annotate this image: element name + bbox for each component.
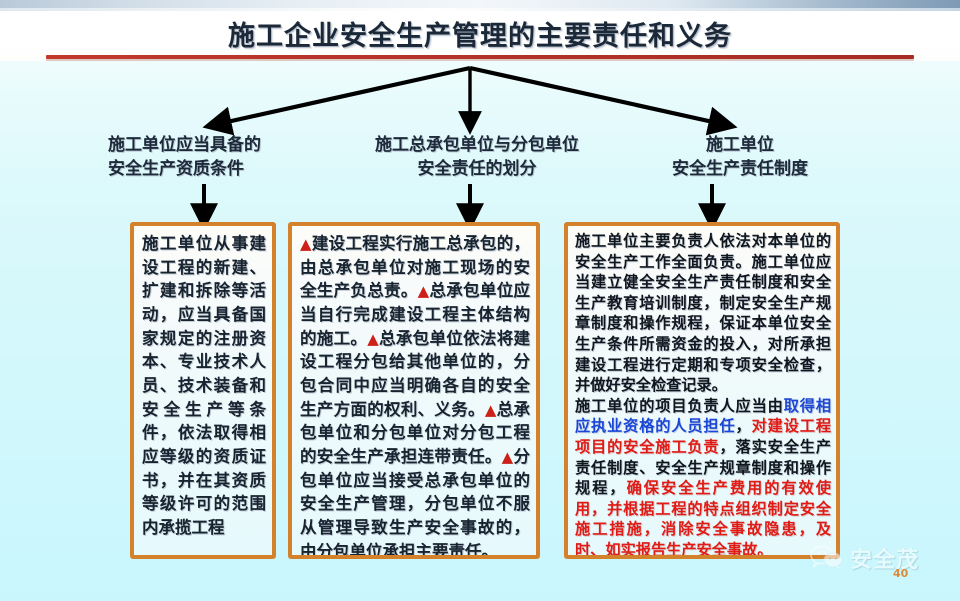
content-box-3-text: 施工单位主要负责人依法对本单位的安全生产工作全面负责。施工单位应当建立健全安全生… (568, 226, 836, 559)
column-header-1-line1: 施工单位应当具备的 (108, 135, 261, 155)
column-header-1-line2: 安全生产资质条件 (108, 157, 308, 181)
top-chrome-strip (0, 0, 960, 8)
paragraph-2-segment-plain: 施工单位的项目负责人应当由 (575, 397, 784, 415)
content-box-responsibility-system: 施工单位主要负责人依法对本单位的安全生产工作全面负责。施工单位应当建立健全安全生… (564, 222, 840, 559)
bullet-triangle-icon: ▲ (418, 282, 430, 300)
slide-canvas: 施工企业安全生产管理的主要责任和义务 施工单位应当具备的 安全生产资质条件 施工… (0, 0, 960, 601)
column-header-3: 施工单位 安全生产责任制度 (650, 133, 830, 181)
page-title: 施工企业安全生产管理的主要责任和义务 (0, 14, 960, 53)
column-header-2: 施工总承包单位与分包单位 安全责任的划分 (352, 133, 602, 181)
column-header-1: 施工单位应当具备的 安全生产资质条件 (108, 133, 308, 181)
paragraph-1-text: 施工单位主要负责人依法对本单位的安全生产工作全面负责。施工单位应当建立健全安全生… (575, 232, 831, 394)
bullet-triangle-icon: ▲ (300, 235, 312, 253)
column-header-2-line2: 安全责任的划分 (352, 157, 602, 181)
column-header-3-line2: 安全生产责任制度 (650, 157, 830, 181)
bullet-triangle-icon: ▲ (485, 401, 497, 419)
watermark-label: 安全茂 (850, 542, 919, 574)
content-box-qualification: 施工单位从事建设工程的新建、扩建和拆除等活动，应当具备国家规定的注册资本、专业技… (130, 222, 276, 559)
content-box-1-text: 施工单位从事建设工程的新建、扩建和拆除等活动，应当具备国家规定的注册资本、专业技… (134, 226, 272, 544)
content-box-2-text: ▲建设工程实行施工总承包的，由总承包单位对施工现场的安全生产负总责。▲总承包单位… (292, 226, 536, 559)
title-underline-shadow (46, 59, 914, 61)
column-header-2-line1: 施工总承包单位与分包单位 (375, 135, 579, 155)
page-number: 40 (893, 567, 908, 580)
bullet-triangle-icon: ▲ (367, 330, 379, 348)
content-box-responsibility-split: ▲建设工程实行施工总承包的，由总承包单位对施工现场的安全生产负总责。▲总承包单位… (288, 222, 540, 559)
column-header-3-line1: 施工单位 (706, 135, 774, 155)
bullet-triangle-icon: ▲ (502, 448, 514, 466)
paragraph-2-segment-plain: ， (736, 417, 752, 435)
wechat-icon (810, 545, 844, 571)
